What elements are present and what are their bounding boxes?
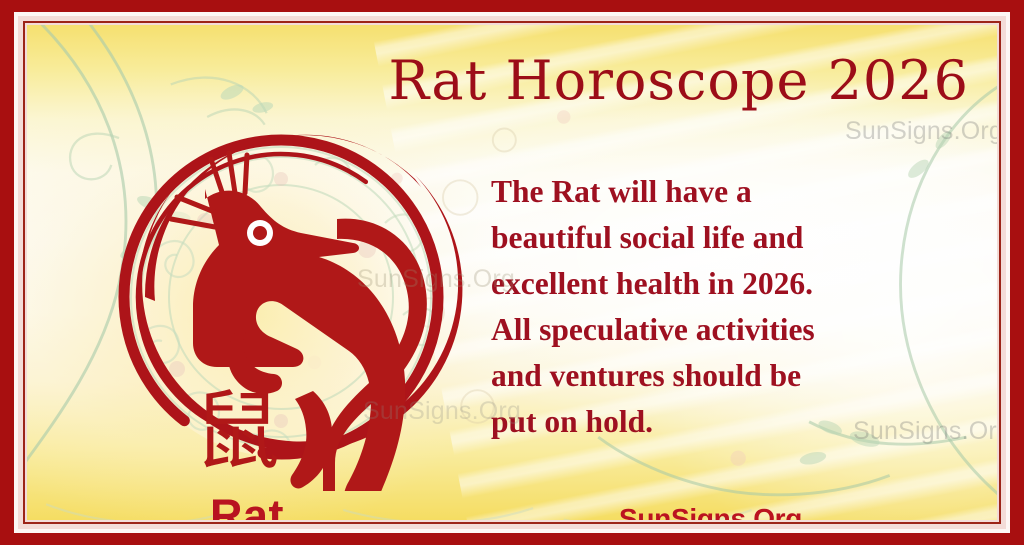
page-title: Rat Horoscope 2026 bbox=[389, 49, 969, 112]
chinese-character-rat: 鼠 bbox=[194, 382, 280, 482]
horoscope-line: All speculative activities bbox=[491, 307, 961, 353]
card-content: 鼠 Rat Rat Horoscope 2026 The Rat will ha… bbox=[27, 25, 997, 520]
horoscope-line: put on hold. bbox=[491, 399, 961, 445]
frame-red-rule: 鼠 Rat Rat Horoscope 2026 The Rat will ha… bbox=[23, 21, 1001, 524]
horoscope-line: and ventures should be bbox=[491, 353, 961, 399]
horoscope-card: 鼠 Rat Rat Horoscope 2026 The Rat will ha… bbox=[0, 0, 1024, 545]
brand-name: SunSigns.Org bbox=[619, 503, 802, 520]
animal-label: Rat bbox=[87, 493, 407, 520]
watermark: SunSigns.Org bbox=[845, 117, 997, 146]
horoscope-line: excellent health in 2026. bbox=[491, 261, 961, 307]
frame-white-band: 鼠 Rat Rat Horoscope 2026 The Rat will ha… bbox=[14, 12, 1010, 533]
horoscope-line: beautiful social life and bbox=[491, 215, 961, 261]
rat-emblem-svg: 鼠 bbox=[85, 101, 475, 491]
horoscope-line: The Rat will have a bbox=[491, 169, 961, 215]
horoscope-text: The Rat will have a beautiful social lif… bbox=[491, 169, 961, 445]
frame-pink-band: 鼠 Rat Rat Horoscope 2026 The Rat will ha… bbox=[18, 16, 1006, 529]
rat-emblem: 鼠 bbox=[85, 101, 475, 491]
rat-eye-pupil bbox=[253, 226, 267, 240]
